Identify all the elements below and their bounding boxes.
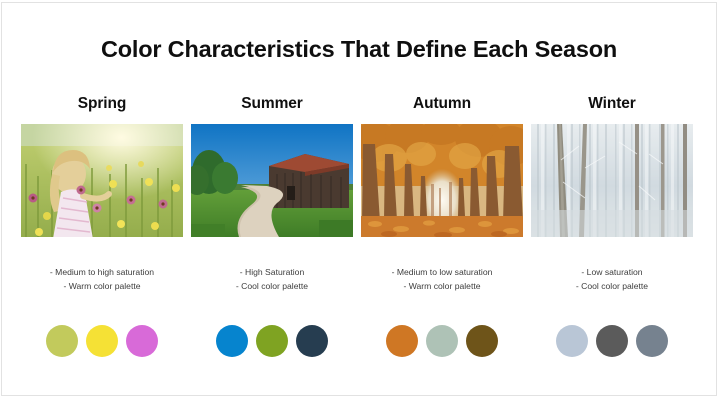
description-summer: - High Saturation - Cool color palette [191,265,353,293]
summer-photo-barn-and-dirt-road [191,124,353,237]
description-autumn: - Medium to low saturation - Warm color … [361,265,523,293]
swatch-summer-olive-green [256,325,288,357]
description-line: - Medium to high saturation [21,265,183,279]
season-heading-winter: Winter [531,95,693,113]
slide-canvas: Color Characteristics That Define Each S… [1,2,717,396]
swatch-winter-light-blue-grey [556,325,588,357]
description-line: - Low saturation [531,265,693,279]
swatch-autumn-dark-brown [466,325,498,357]
description-line: - Cool color palette [191,279,353,293]
season-heading-summer: Summer [191,95,353,113]
winter-photo-illustration [531,124,693,237]
swatch-winter-dark-grey [596,325,628,357]
description-line: - Warm color palette [21,279,183,293]
swatch-row-summer [191,325,353,357]
description-winter: - Low saturation - Cool color palette [531,265,693,293]
swatch-autumn-burnt-orange [386,325,418,357]
season-heading-spring: Spring [21,95,183,113]
description-line: - Warm color palette [361,279,523,293]
description-spring: - Medium to high saturation - Warm color… [21,265,183,293]
swatch-row-winter [531,325,693,357]
description-line: - Cool color palette [531,279,693,293]
swatch-summer-bright-blue [216,325,248,357]
swatch-spring-orchid-pink [126,325,158,357]
swatch-winter-slate-grey [636,325,668,357]
season-heading-autumn: Autumn [361,95,523,113]
swatch-row-spring [21,325,183,357]
autumn-photo-misty-tree-avenue [361,124,523,237]
page-title: Color Characteristics That Define Each S… [2,36,716,63]
spring-photo-illustration [21,124,183,237]
swatch-spring-olive-yellow [46,325,78,357]
spring-photo-girl-in-wildflower-meadow [21,124,183,237]
winter-photo-frosty-forest [531,124,693,237]
autumn-photo-illustration [361,124,523,237]
description-line: - Medium to low saturation [361,265,523,279]
summer-photo-illustration [191,124,353,237]
swatch-row-autumn [361,325,523,357]
swatch-spring-bright-yellow [86,325,118,357]
description-line: - High Saturation [191,265,353,279]
swatch-summer-dark-navy [296,325,328,357]
swatch-autumn-sage-green [426,325,458,357]
